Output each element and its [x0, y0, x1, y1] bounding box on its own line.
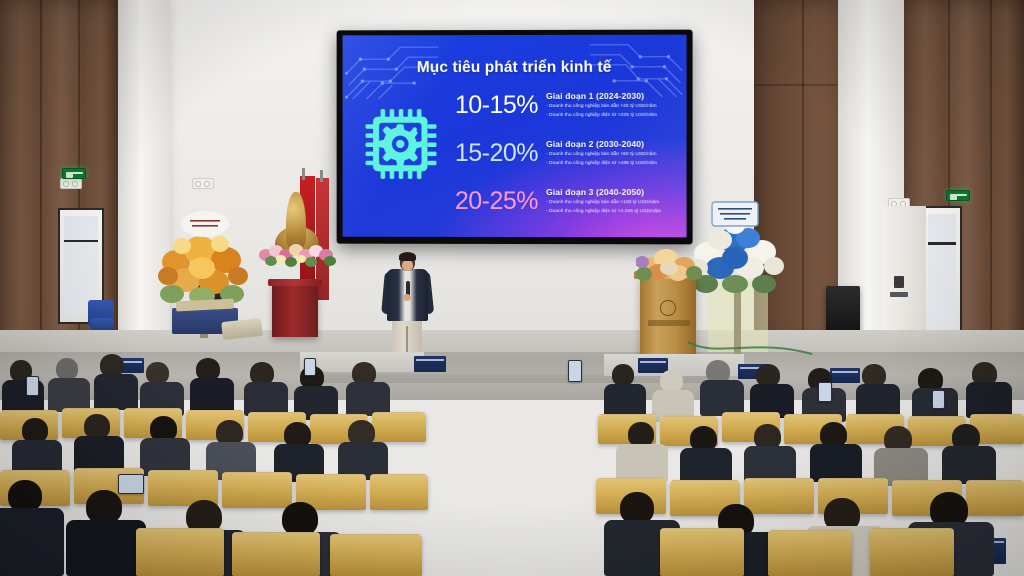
- seat[interactable]: [330, 534, 422, 576]
- percent-value-2: 15-20%: [426, 141, 538, 166]
- audience-head: [86, 490, 122, 524]
- seat[interactable]: [966, 480, 1024, 516]
- phase-bullet-2-1: - Doanh thu công nghiệp bán dẫn >50 tỷ U…: [546, 151, 678, 158]
- phone-recording-5[interactable]: [932, 390, 945, 409]
- phone-on-seat[interactable]: [118, 474, 144, 494]
- audience-head: [612, 364, 634, 386]
- slide-rows: 10-15% Giai đoạn 1 (2024-2030) - Doanh t…: [426, 91, 678, 231]
- audience-torso: [604, 384, 646, 418]
- audience-torso: [346, 382, 390, 416]
- audience-torso: [0, 508, 64, 576]
- phase-label-3: Giai đoạn 3 (2040-2050): [546, 187, 678, 197]
- emergency-light-center: [192, 178, 214, 189]
- slide-title: Mục tiêu phát triển kinh tế: [343, 59, 687, 77]
- presenter-hand: [403, 294, 411, 301]
- phone-recording-1[interactable]: [568, 360, 582, 382]
- slide-row-3: 20-25% Giai đoạn 3 (2040-2050) - Doanh t…: [426, 187, 678, 235]
- seat[interactable]: [744, 478, 814, 514]
- flagpole-2: [320, 170, 323, 182]
- exit-sign-right: [946, 190, 970, 201]
- exit-sign-left: [62, 168, 86, 179]
- loudspeaker-right-top: [826, 286, 860, 332]
- podium-emblem: [660, 300, 676, 316]
- audience-torso: [94, 374, 138, 410]
- wall-switch-row[interactable]: [890, 292, 908, 297]
- phase-bullet-3-1: - Doanh thu công nghiệp bán dẫn >100 tỷ …: [546, 199, 678, 207]
- phase-bullet-3-2: - Doanh thu công nghiệp điện tử >1.045 t…: [546, 208, 678, 216]
- door-panel-right-side: [882, 206, 926, 346]
- seat[interactable]: [372, 412, 426, 442]
- bust-pedestal: [272, 283, 318, 337]
- phone-recording-2[interactable]: [26, 376, 39, 396]
- percent-value-3: 20-25%: [426, 189, 538, 214]
- name-card-3: [638, 358, 668, 373]
- audience-torso: [942, 446, 996, 484]
- audience-torso: [244, 382, 288, 416]
- seat[interactable]: [370, 474, 428, 510]
- seat[interactable]: [660, 528, 744, 576]
- audience-head: [146, 362, 169, 384]
- presenter-face: [402, 260, 413, 271]
- podium-flower-arrangement: [636, 242, 704, 284]
- emergency-light-left: [60, 178, 82, 189]
- phase-label-2: Giai đoạn 2 (2030-2040): [546, 139, 678, 149]
- audience-area: [0, 352, 1024, 576]
- seat[interactable]: [136, 528, 224, 576]
- phase-label-1: Giai đoạn 1 (2024-2030): [546, 91, 678, 101]
- blue-chair-1-seat: [90, 318, 114, 330]
- audience-head: [56, 358, 78, 380]
- seat[interactable]: [222, 472, 292, 508]
- seat[interactable]: [870, 528, 954, 576]
- podium-name-plate: [648, 320, 690, 326]
- audience-torso: [700, 380, 744, 416]
- presenter-hair: [399, 252, 416, 261]
- slide-row-2: 15-20% Giai đoạn 2 (2030-2040) - Doanh t…: [426, 139, 678, 187]
- audience-torso: [616, 444, 668, 482]
- slide-content: Mục tiêu phát triển kinh tế: [343, 35, 687, 238]
- name-card-1: [414, 356, 446, 372]
- name-card-5: [830, 368, 860, 383]
- percent-value-1: 10-15%: [426, 93, 538, 118]
- led-presentation-screen: Mục tiêu phát triển kinh tế: [337, 30, 693, 245]
- flagpole-1: [302, 168, 305, 180]
- seat[interactable]: [768, 530, 852, 576]
- audience-torso: [190, 378, 234, 414]
- seat[interactable]: [232, 532, 320, 576]
- phase-bullet-1-2: - Doanh thu công nghiệp điện tử >225 tỷ …: [546, 112, 678, 119]
- phone-recording-4[interactable]: [818, 382, 832, 402]
- bust-pedestal-top: [268, 279, 322, 286]
- bust-flower-garland: [258, 237, 338, 267]
- audience-torso: [966, 382, 1012, 418]
- phone-recording-3[interactable]: [304, 358, 316, 376]
- audience-torso: [48, 378, 90, 412]
- audience-head: [660, 370, 683, 392]
- audience-head: [282, 502, 318, 536]
- conference-room-photo: Mục tiêu phát triển kinh tế: [0, 0, 1024, 576]
- audience-torso: [66, 520, 146, 576]
- audience-torso: [810, 444, 862, 482]
- phase-bullet-2-2: - Doanh thu công nghiệp điện tử >485 tỷ …: [546, 160, 678, 168]
- door-right[interactable]: [922, 206, 962, 342]
- phase-bullet-1-1: - Doanh thu công nghiệp bán dẫn >25 tỷ U…: [546, 103, 678, 111]
- wall-control-panel[interactable]: [894, 276, 904, 288]
- slide-row-1: 10-15% Giai đoạn 1 (2024-2030) - Doanh t…: [426, 91, 678, 139]
